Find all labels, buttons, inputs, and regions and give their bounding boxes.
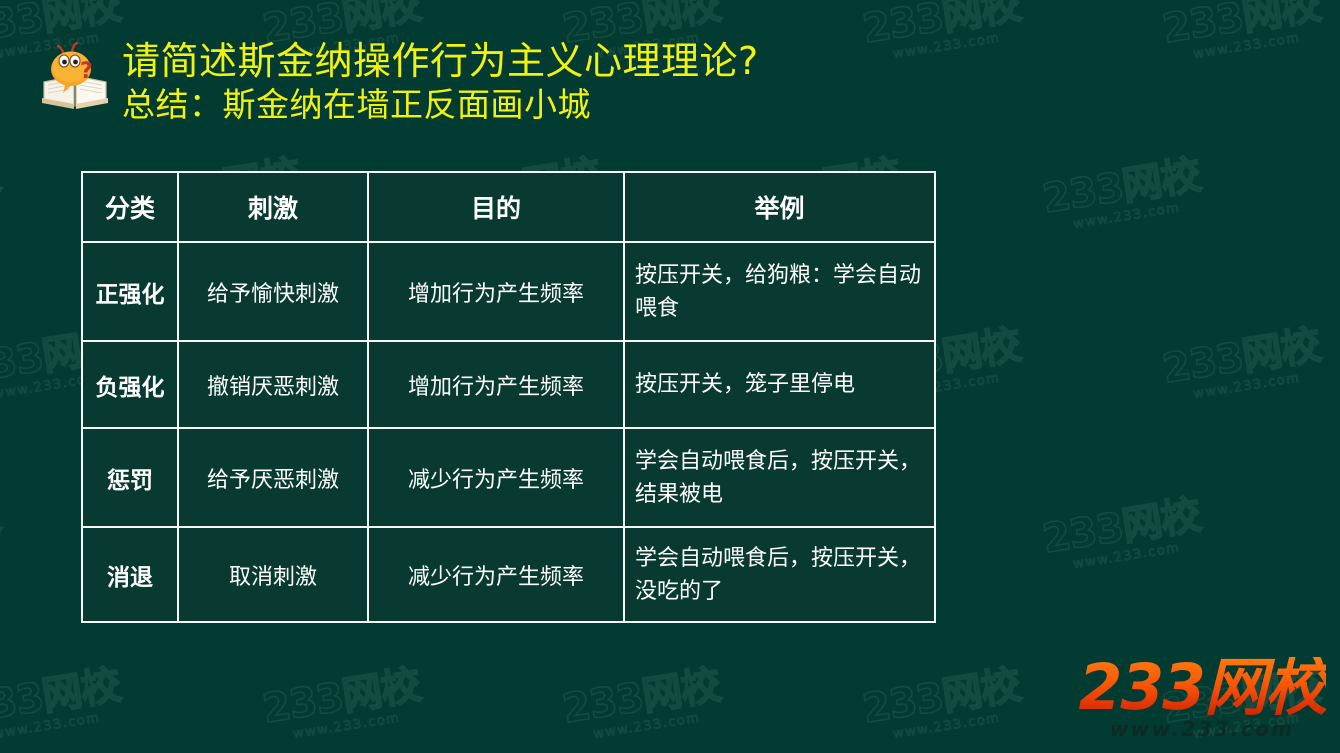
watermark-233wangxiao: 233网校www.233.com bbox=[1040, 495, 1205, 575]
cell-purpose: 减少行为产生频率 bbox=[368, 428, 624, 527]
watermark-url-text: www.233.com bbox=[292, 708, 425, 742]
watermark-main-text: 233网校 bbox=[1040, 495, 1203, 559]
page-title: 请简述斯金纳操作行为主义心理理论? bbox=[122, 40, 759, 83]
watermark-main-text: 233网校 bbox=[860, 665, 1023, 729]
watermark-main-text: 233网校 bbox=[1160, 325, 1323, 389]
watermark-main-text: 233网校 bbox=[260, 665, 423, 729]
watermark-233wangxiao: 233网校www.233.com bbox=[560, 665, 725, 745]
watermark-233wangxiao: 233网校www.233.com bbox=[1160, 0, 1325, 65]
table-row: 正强化 给予愉快刺激 增加行为产生频率 按压开关，给狗粮：学会自动喂食 bbox=[82, 242, 935, 341]
slide-header: ? 请简述斯金纳操作行为主义心理理论? 总结：斯金纳在墙正反面画小城 bbox=[38, 36, 759, 124]
column-header-example: 举例 bbox=[624, 172, 935, 242]
column-header-category: 分类 bbox=[82, 172, 178, 242]
watermark-main-text: 233网校 bbox=[1160, 0, 1323, 50]
table-row: 惩罚 给予厌恶刺激 减少行为产生频率 学会自动喂食后，按压开关，结果被电 bbox=[82, 428, 935, 527]
cell-purpose: 减少行为产生频率 bbox=[368, 527, 624, 622]
watermark-url-text: www.233.com bbox=[892, 708, 1025, 742]
cell-stimulus: 给予厌恶刺激 bbox=[178, 428, 368, 527]
brand-logo-url: www.233.com bbox=[1078, 717, 1326, 741]
column-header-stimulus: 刺激 bbox=[178, 172, 368, 242]
brand-logo-text: 233网校 bbox=[1078, 657, 1326, 719]
watermark-233wangxiao: 233网校www.233.com bbox=[260, 665, 425, 745]
cell-purpose: 增加行为产生频率 bbox=[368, 341, 624, 428]
cell-category: 正强化 bbox=[82, 242, 178, 341]
slide-canvas: 233网校www.233.com233网校www.233.com233网校www… bbox=[0, 0, 1340, 753]
cell-purpose: 增加行为产生频率 bbox=[368, 242, 624, 341]
watermark-233wangxiao: 233网校www.233.com bbox=[1040, 155, 1205, 235]
cell-example: 学会自动喂食后，按压开关，结果被电 bbox=[624, 428, 935, 527]
watermark-url-text: www.233.com bbox=[0, 198, 5, 232]
cell-stimulus: 取消刺激 bbox=[178, 527, 368, 622]
watermark-url-text: www.233.com bbox=[592, 708, 725, 742]
table-row: 消退 取消刺激 减少行为产生频率 学会自动喂食后，按压开关，没吃的了 bbox=[82, 527, 935, 622]
watermark-url-text: www.233.com bbox=[0, 708, 125, 742]
watermark-url-text: www.233.com bbox=[1192, 368, 1325, 402]
watermark-url-text: www.233.com bbox=[1072, 538, 1205, 572]
watermark-url-text: www.233.com bbox=[1072, 198, 1205, 232]
book-question-icon: ? bbox=[38, 38, 112, 112]
title-block: 请简述斯金纳操作行为主义心理理论? 总结：斯金纳在墙正反面画小城 bbox=[122, 36, 759, 124]
cell-stimulus: 给予愉快刺激 bbox=[178, 242, 368, 341]
table-header-row: 分类 刺激 目的 举例 bbox=[82, 172, 935, 242]
watermark-main-text: 233网校 bbox=[560, 665, 723, 729]
watermark-233wangxiao: 233网校www.233.com bbox=[0, 665, 125, 745]
watermark-233wangxiao: 233网校www.233.com bbox=[1160, 325, 1325, 405]
watermark-main-text: 233网校 bbox=[0, 665, 123, 729]
watermark-233wangxiao: 233网校www.233.com bbox=[0, 155, 5, 235]
watermark-main-text: 233网校 bbox=[0, 495, 3, 559]
cell-category: 惩罚 bbox=[82, 428, 178, 527]
watermark-url-text: www.233.com bbox=[0, 538, 5, 572]
brand-logo: 233网校 www.233.com bbox=[1078, 657, 1326, 741]
watermark-233wangxiao: 233网校www.233.com bbox=[860, 665, 1025, 745]
cell-example: 学会自动喂食后，按压开关，没吃的了 bbox=[624, 527, 935, 622]
watermark-url-text: www.233.com bbox=[1192, 28, 1325, 62]
reinforcement-table: 分类 刺激 目的 举例 正强化 给予愉快刺激 增加行为产生频率 按压开关，给狗粮… bbox=[81, 171, 936, 623]
watermark-main-text: 233网校 bbox=[860, 0, 1023, 50]
column-header-purpose: 目的 bbox=[368, 172, 624, 242]
cell-stimulus: 撤销厌恶刺激 bbox=[178, 341, 368, 428]
watermark-main-text: 233网校 bbox=[1040, 155, 1203, 219]
watermark-233wangxiao: 233网校www.233.com bbox=[860, 0, 1025, 65]
watermark-main-text: 233网校 bbox=[0, 155, 3, 219]
cell-example: 按压开关，给狗粮：学会自动喂食 bbox=[624, 242, 935, 341]
cell-example: 按压开关，笼子里停电 bbox=[624, 341, 935, 428]
svg-text:?: ? bbox=[80, 59, 93, 84]
watermark-233wangxiao: 233网校www.233.com bbox=[0, 495, 5, 575]
watermark-url-text: www.233.com bbox=[892, 28, 1025, 62]
cell-category: 消退 bbox=[82, 527, 178, 622]
page-subtitle: 总结：斯金纳在墙正反面画小城 bbox=[122, 86, 759, 124]
cell-category: 负强化 bbox=[82, 341, 178, 428]
table-row: 负强化 撤销厌恶刺激 增加行为产生频率 按压开关，笼子里停电 bbox=[82, 341, 935, 428]
